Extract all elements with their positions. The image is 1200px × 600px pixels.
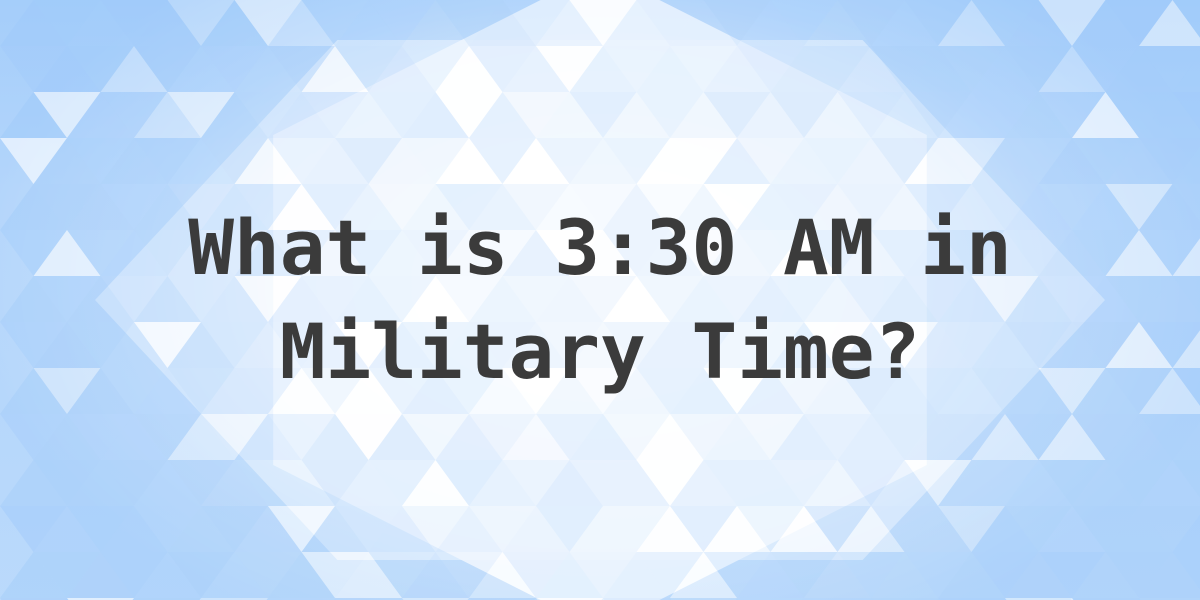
background-triangle-tessellation [0, 0, 1200, 600]
title-card: What is 3:30 AM in Military Time? [0, 0, 1200, 600]
